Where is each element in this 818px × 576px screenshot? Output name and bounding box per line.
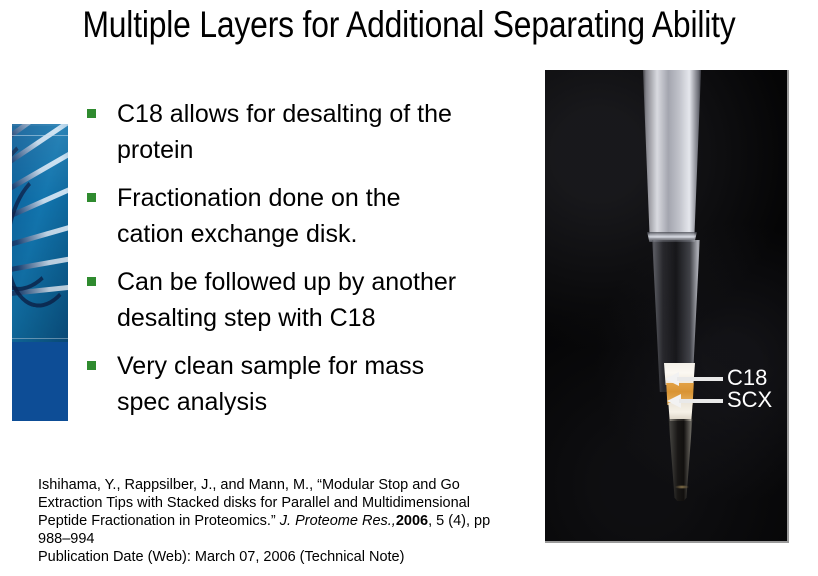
list-item-label: Very clean sample for mass spec analysis — [117, 348, 474, 420]
bullet-list: C18 allows for desalting of the protein … — [84, 96, 474, 432]
citation-publication-date: Publication Date (Web): March 07, 2006 (… — [38, 549, 404, 565]
arrow-shaft — [677, 377, 723, 381]
bullet-square-icon — [87, 361, 96, 370]
list-item-label: Fractionation done on the cation exchang… — [117, 180, 474, 252]
photo-label-scx: SCX — [727, 389, 772, 411]
bullet-square-icon — [87, 109, 96, 118]
tip-glint — [675, 485, 689, 489]
citation-journal: J. Proteome Res., — [280, 513, 396, 529]
list-item: Very clean sample for mass spec analysis — [84, 348, 474, 420]
bullet-square-icon — [87, 277, 96, 286]
page-title: Multiple Layers for Additional Separatin… — [57, 4, 760, 46]
c18-arrow-icon — [665, 377, 723, 381]
strip-solid-block — [12, 342, 68, 421]
pipette-barrel — [641, 70, 703, 238]
blue-helix-strip — [12, 124, 68, 421]
helix-image — [12, 124, 68, 342]
pipette-tip-photo: C18 SCX — [545, 70, 789, 543]
list-item-label: C18 allows for desalting of the protein — [117, 96, 474, 168]
bullet-square-icon — [87, 193, 96, 202]
arrow-shaft — [679, 399, 723, 403]
photo-label-c18: C18 — [727, 367, 767, 389]
citation-year: 2006 — [396, 513, 428, 529]
citation-block: Ishihama, Y., Rappsilber, J., and Mann, … — [38, 476, 508, 566]
list-item: Can be followed up by another desalting … — [84, 264, 474, 336]
strip-hairline — [12, 135, 68, 136]
list-item-label: Can be followed up by another desalting … — [117, 264, 474, 336]
strip-hairline — [12, 338, 68, 339]
list-item: Fractionation done on the cation exchang… — [84, 180, 474, 252]
scx-arrow-icon — [667, 399, 723, 403]
list-item: C18 allows for desalting of the protein — [84, 96, 474, 168]
